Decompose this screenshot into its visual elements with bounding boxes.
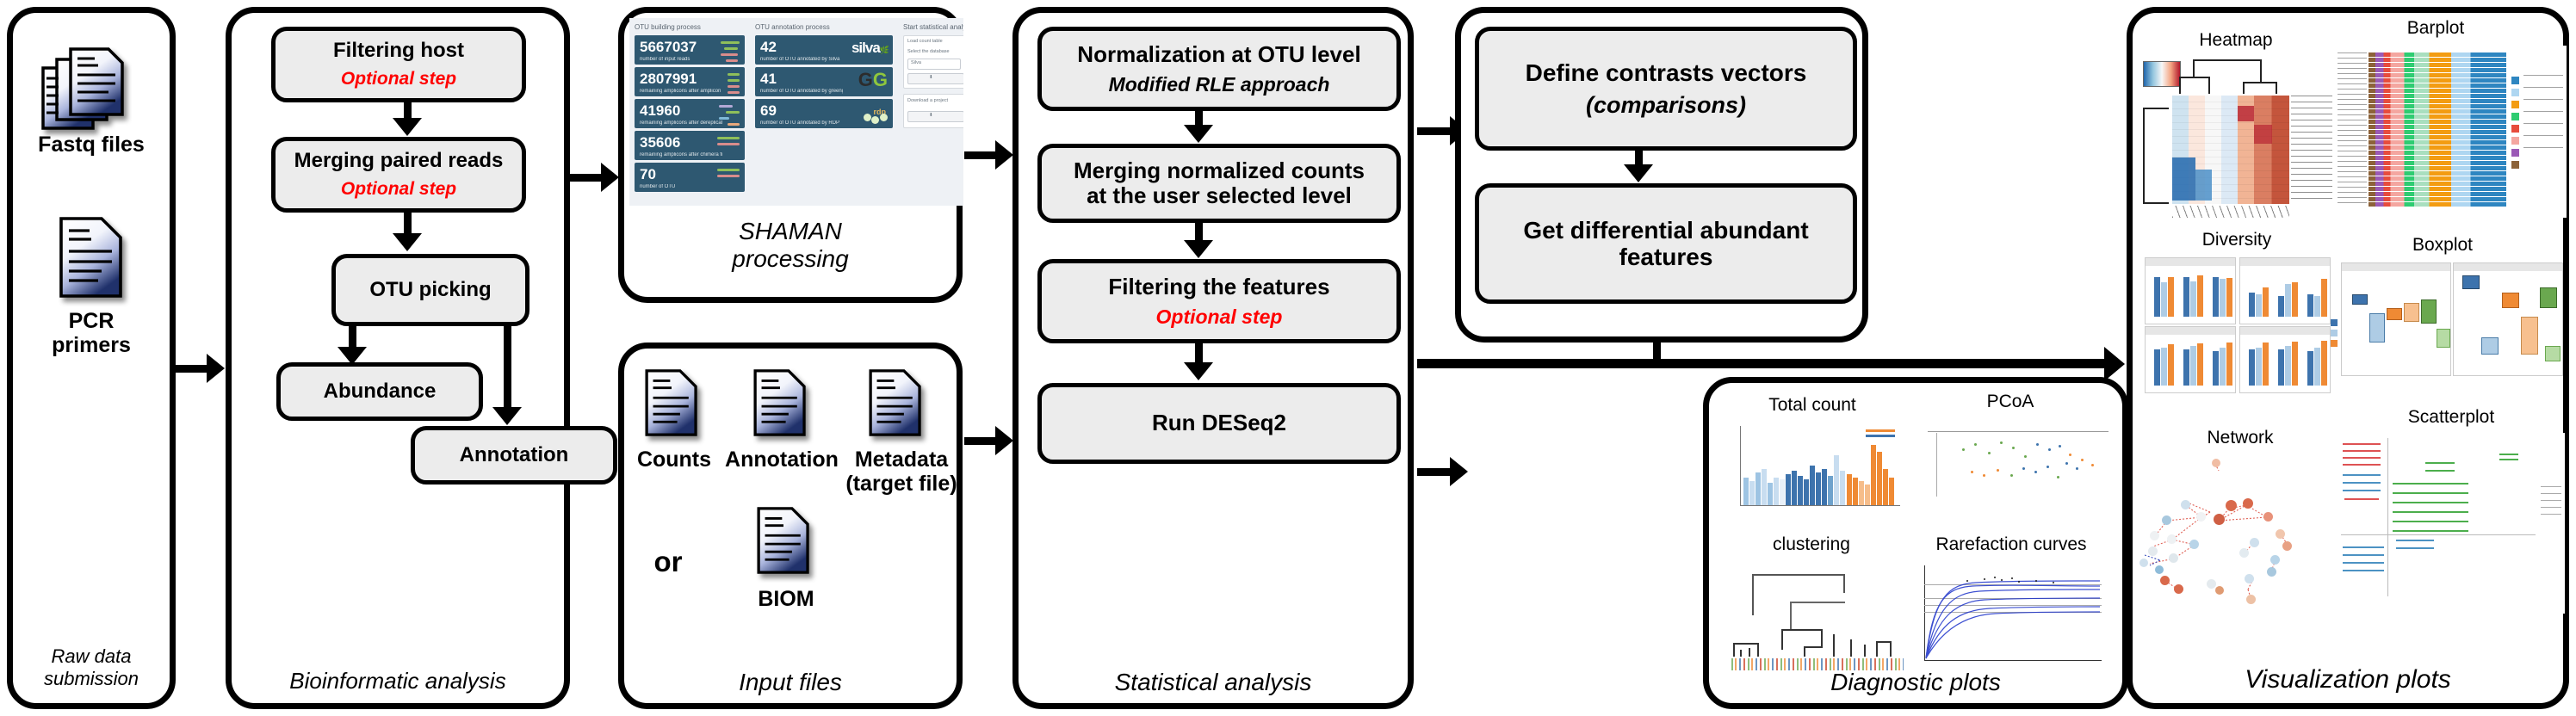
point — [2069, 454, 2071, 456]
network-node — [2215, 586, 2224, 595]
workflow-diagram: Fastq files — [0, 0, 2576, 716]
x-axis — [1740, 505, 1900, 506]
point — [2047, 466, 2049, 468]
shaman-load-count-panel: Load count table Select the database Sil… — [903, 35, 963, 89]
arrow-input-to-stats-head — [995, 426, 1013, 455]
plot-scatterplot — [2339, 433, 2565, 614]
annotation-file-label: Annotation — [719, 448, 845, 472]
step-run-deseq2: Run DESeq2 — [1037, 383, 1401, 464]
network-node — [2243, 498, 2253, 509]
panel-statistical-analysis: Normalization at OTU level Modified RLE … — [1012, 7, 1414, 709]
bar — [1871, 445, 1876, 505]
shaman-load-button[interactable]: ⬇ — [907, 73, 963, 84]
plot-barplot — [2336, 46, 2567, 218]
sparkline-icon — [728, 73, 740, 96]
legend — [1866, 435, 1895, 437]
pcr-primers-group — [13, 215, 170, 304]
heatmap-col-labels — [2172, 206, 2289, 218]
scatter-labels-green-upper — [2425, 462, 2455, 476]
shaman-download-project-panel: Download a project ⬇ — [903, 94, 963, 128]
network-node — [2150, 531, 2159, 540]
sparkline-icon — [719, 105, 740, 128]
network-node — [2167, 534, 2177, 544]
point — [2012, 447, 2015, 449]
network-edges — [2136, 452, 2339, 646]
step-otu-picking-title: OTU picking — [369, 279, 491, 302]
panel-raw-data: Fastq files — [7, 7, 176, 709]
dendrogram-branch — [2193, 59, 2262, 61]
plot-title-scatterplot: Scatterplot — [2365, 407, 2537, 428]
greengenes-logo-icon: GG — [858, 71, 888, 89]
dendrogram-branch — [1833, 634, 1835, 657]
network-node — [2162, 515, 2171, 525]
shaman-stat-label: number of OTU annotated by RDP — [760, 120, 843, 127]
shaman-stat-card: 70 number of OTU — [635, 163, 745, 192]
y-axis — [1936, 433, 1937, 497]
shaman-db-field-label: Select the database — [907, 49, 950, 55]
scatter-labels-blue-bottom — [2343, 546, 2384, 577]
shaman-stat-value: 35606 — [640, 135, 680, 150]
step-abundance-title: Abundance — [324, 380, 437, 404]
point — [2000, 441, 2003, 444]
fastq-files-group — [13, 44, 170, 143]
shaman-stat-value: 69 — [760, 103, 777, 118]
network-node — [2148, 546, 2158, 556]
bar — [1877, 452, 1882, 505]
panel-bioinformatic-analysis-caption: Bioinformatic analysis — [232, 668, 564, 694]
shaman-stat-card: 42 number of OTU annotated by Silva silv… — [755, 35, 893, 65]
step-annotation: Annotation — [411, 426, 617, 485]
biom-file-group — [755, 505, 812, 580]
point — [2036, 443, 2039, 446]
shaman-stat-value: 41 — [760, 71, 777, 86]
network-node — [2276, 529, 2285, 539]
dendrogram-branch — [1821, 629, 1823, 648]
network-node — [2212, 459, 2220, 467]
dendrogram-branch — [1733, 643, 1759, 645]
dendrogram-branch — [1804, 646, 1805, 657]
shaman-stat-label: number of OTU annotated by Silva — [760, 57, 843, 63]
point — [2081, 459, 2084, 461]
fastq-files-label: Fastq files — [13, 133, 170, 157]
shaman-app-screenshot: OTU building process 5667037 number of i… — [629, 18, 963, 206]
arrow-otu-to-annotation-head — [492, 407, 522, 425]
plot-title-boxplot: Boxplot — [2365, 235, 2520, 256]
counts-file-label: Counts — [628, 448, 721, 472]
legend — [1866, 429, 1895, 432]
plot-total-count — [1721, 421, 1907, 519]
dendrogram-branch — [2193, 59, 2195, 77]
dendrogram-branch — [1850, 639, 1852, 657]
counts-file-group — [643, 367, 700, 442]
step-get-differential-features-title: Get differential abundantfeatures — [1523, 217, 1808, 271]
or-label: or — [638, 546, 698, 577]
arrow-contrasts-to-differential-head — [1624, 164, 1653, 182]
facet — [2453, 262, 2563, 376]
panel-contrasts: Define contrasts vectors (comparisons) G… — [1455, 7, 1868, 343]
shaman-download-button[interactable]: ⬇ — [907, 111, 963, 122]
arrow-stats-to-diagnostic-head — [1450, 457, 1468, 486]
step-define-contrasts-note: (comparisons) — [1586, 92, 1746, 118]
facet — [2239, 257, 2331, 324]
heatmap-colorbar — [2143, 61, 2181, 87]
shaman-stat-label: number of OTU — [640, 184, 722, 190]
shaman-col-otu-building-header: OTU building process — [635, 23, 701, 31]
bar — [1889, 478, 1894, 505]
step-filtering-host: Filtering host Optional step — [271, 27, 526, 102]
point — [2048, 448, 2051, 451]
scatter-labels-green-right — [2499, 454, 2518, 460]
network-node — [2226, 500, 2237, 511]
shaman-stat-value: 2807991 — [640, 71, 697, 86]
dendrogram-branch — [1890, 641, 1892, 657]
shaman-load-count-title: Load count table — [907, 39, 943, 45]
document-icon — [57, 215, 126, 299]
dendrogram-branch — [1752, 574, 1845, 576]
bar — [1840, 471, 1845, 505]
y-axis — [1740, 426, 1741, 505]
arrow-bioinfo-to-shaman — [570, 174, 603, 182]
step-normalization: Normalization at OTU level Modified RLE … — [1037, 27, 1401, 111]
dendrogram-branch — [1790, 602, 1792, 631]
panel-visualization-plots: Heatmap — [2127, 7, 2569, 709]
sparkline-icon — [721, 41, 740, 65]
panel-diagnostic-plots: Total count — [1703, 377, 2128, 709]
network-node — [2214, 514, 2225, 525]
x-axis — [2341, 534, 2536, 535]
dendrogram-branch — [2243, 82, 2277, 83]
network-node — [2207, 579, 2216, 589]
step-normalization-note: Modified RLE approach — [1109, 74, 1330, 96]
plot-diversity — [2145, 257, 2334, 395]
panel-shaman-caption: SHAMANprocessing — [624, 218, 957, 273]
network-node — [2263, 512, 2273, 522]
bar — [1774, 478, 1779, 505]
step-define-contrasts: Define contrasts vectors (comparisons) — [1475, 27, 1857, 151]
document-icon — [752, 367, 808, 438]
scatter-labels-red-mid — [2344, 498, 2379, 505]
step-merging-normalized-counts-title: Merging normalized countsat the user sel… — [1074, 158, 1365, 208]
bar — [1804, 479, 1809, 505]
point — [1983, 474, 1985, 477]
arrow-otu-to-annotation — [504, 326, 511, 410]
step-filtering-features-note: Optional step — [1156, 306, 1283, 329]
panel-shaman-processing: OTU building process 5667037 number of i… — [618, 7, 963, 303]
point — [2024, 455, 2027, 458]
barplot-legend — [2511, 77, 2519, 169]
shaman-load-button-label: ⬇ — [929, 75, 933, 81]
shaman-stat-label: remaining amplicons after dereplication — [640, 120, 722, 127]
bar — [1762, 469, 1767, 505]
step-merging-paired-reads-note: Optional step — [341, 179, 456, 200]
network-node — [2169, 553, 2178, 563]
shaman-stat-label: number of OTU annotated by greengenes — [760, 89, 843, 95]
arrow-shaman-to-stats-head — [995, 140, 1013, 170]
scatter-labels-blue-inner — [2396, 540, 2434, 553]
point — [2034, 471, 2037, 473]
shaman-col-start-analysis-header: Start statistical analysis — [903, 23, 963, 31]
bar — [1816, 472, 1821, 505]
arrow-merging-to-filtering-head — [1184, 240, 1213, 258]
facet — [2145, 326, 2236, 393]
shaman-stat-card: 2807991 remaining amplicons after amplic… — [635, 67, 745, 96]
silva-logo-icon: silva🌿 — [851, 40, 889, 57]
shaman-db-select-value: Silva — [911, 60, 921, 66]
biom-file-label: BIOM — [726, 588, 846, 612]
shaman-stat-card: 41960 remaining amplicons after dereplic… — [635, 99, 745, 128]
bar — [1883, 469, 1888, 505]
arrow-raw-to-bioinfo-head — [207, 354, 225, 383]
shaman-download-button-label: ⬇ — [929, 113, 933, 119]
dendrogram-branch — [2143, 108, 2169, 109]
step-otu-picking: OTU picking — [331, 254, 529, 326]
step-get-differential-features: Get differential abundantfeatures — [1475, 183, 1857, 304]
point — [1997, 469, 1999, 472]
step-merging-paired-reads-title: Merging paired reads — [294, 150, 504, 173]
panel-input-files-caption: Input files — [624, 669, 957, 696]
network-node — [2160, 576, 2170, 585]
step-filtering-features-title: Filtering the features — [1108, 275, 1329, 299]
bar — [1792, 471, 1797, 505]
dendrogram-branch — [1749, 648, 1750, 657]
plot-title-heatmap: Heatmap — [2158, 30, 2313, 51]
point — [2076, 467, 2078, 470]
dendrogram-branch — [2179, 77, 2181, 94]
step-normalization-title: Normalization at OTU level — [1077, 42, 1360, 67]
dendrogram-branch — [1781, 629, 1783, 650]
rdp-logo-icon: rdp — [874, 103, 887, 119]
plot-title-diversity: Diversity — [2155, 230, 2319, 250]
dendrogram-branch — [1843, 574, 1845, 593]
network-node — [2245, 574, 2254, 583]
step-abundance: Abundance — [276, 362, 483, 421]
plot-title-total-count: Total count — [1718, 395, 1907, 416]
bar — [1798, 476, 1803, 505]
network-node — [2189, 540, 2199, 549]
arrow-stats-to-contrasts — [1417, 127, 1450, 135]
network-node — [2267, 567, 2276, 577]
arrow-stats-to-visualization — [1417, 359, 2109, 368]
scatter-labels-blue-left — [2343, 474, 2381, 493]
shaman-db-select[interactable]: Silva — [907, 59, 961, 70]
top-rule — [1928, 431, 2108, 432]
bar — [1786, 474, 1791, 505]
step-annotation-title: Annotation — [460, 444, 569, 467]
scatter-labels-red — [2343, 443, 2381, 469]
heatmap-row-labels — [2291, 96, 2332, 204]
network-node — [2239, 548, 2249, 558]
arrow-bioinfo-to-shaman-head — [601, 163, 619, 192]
panel-bioinformatic-analysis: Filtering host Optional step Merging pai… — [226, 7, 570, 709]
arrow-filtering-to-merging-head — [393, 118, 422, 136]
point — [1988, 452, 1991, 454]
point — [1971, 471, 1973, 473]
y-axis — [2387, 438, 2388, 596]
diversity-legend — [2331, 319, 2338, 347]
dendrogram-branch — [1740, 650, 1742, 657]
shaman-stat-value: 70 — [640, 167, 656, 182]
arrow-input-to-stats — [964, 437, 997, 445]
step-filtering-host-note: Optional step — [341, 69, 456, 89]
point — [2010, 474, 2013, 477]
point — [1962, 448, 1965, 451]
arrow-merging-to-otu-head — [393, 233, 422, 251]
dendrogram-branch — [1804, 646, 1823, 648]
step-filtering-features: Filtering the features Optional step — [1037, 259, 1401, 343]
dendrogram-branch — [2143, 202, 2169, 204]
bar — [1847, 474, 1852, 505]
panel-input-files: Counts Annotation — [618, 343, 963, 709]
plot-title-rarefaction: Rarefaction curves — [1912, 534, 2110, 555]
dendrogram-branch — [1757, 643, 1759, 657]
shaman-stat-card: 41 number of OTU annotated by greengenes… — [755, 67, 893, 96]
bar — [1865, 485, 1870, 505]
document-icon — [867, 367, 924, 438]
plot-heatmap — [2141, 54, 2336, 218]
plot-title-barplot: Barplot — [2358, 18, 2513, 39]
shaman-stat-card: 35606 remaining amplicons after chimera … — [635, 131, 745, 160]
metadata-file-label: Metadata(target file) — [841, 448, 962, 496]
sparkline-icon — [717, 169, 740, 181]
bar — [1853, 478, 1858, 505]
sparkline-icon — [717, 137, 740, 149]
arrow-filtering-to-deseq2-head — [1184, 362, 1213, 380]
shaman-col-otu-annotation-header: OTU annotation process — [755, 23, 830, 31]
bar — [1834, 455, 1839, 505]
bar — [1828, 476, 1833, 505]
bar — [1768, 483, 1773, 505]
network-node — [2155, 565, 2164, 574]
rarefaction-curves — [1916, 562, 2110, 670]
step-run-deseq2-title: Run DESeq2 — [1152, 410, 1286, 435]
point — [1974, 443, 1977, 446]
facet — [2239, 326, 2331, 393]
plot-title-pcoa: PCoA — [1924, 392, 2096, 412]
dendrogram-branch — [1876, 641, 1878, 657]
plot-title-clustering: clustering — [1721, 534, 1902, 555]
arrow-stats-to-diagnostic — [1417, 468, 1450, 476]
bar — [1743, 478, 1749, 505]
facet — [2341, 262, 2451, 376]
arrow-shaman-to-stats — [964, 151, 997, 159]
panel-statistical-analysis-caption: Statistical analysis — [1019, 669, 1408, 696]
multi-document-icon — [38, 44, 145, 139]
shaman-stat-card: 69 number of OTU annotated by RDP rdp — [755, 99, 893, 128]
plot-title-network: Network — [2158, 428, 2322, 448]
network-node — [2270, 555, 2280, 565]
dendrogram-branch — [1864, 645, 1866, 657]
step-merging-normalized-counts: Merging normalized countsat the user sel… — [1037, 144, 1401, 223]
shaman-stat-card: 5667037 number of input reads — [635, 35, 745, 65]
document-icon — [643, 367, 700, 438]
panel-visualization-plots-caption: Visualization plots — [2133, 665, 2563, 694]
dendrogram-branch — [1733, 643, 1735, 657]
annotation-file-group — [752, 367, 808, 442]
shaman-stat-label: number of input reads — [640, 57, 719, 63]
plot-boxplot — [2341, 262, 2563, 393]
shaman-download-title: Download a project — [907, 98, 948, 104]
scatter-labels-green — [2393, 483, 2468, 533]
network-node — [2139, 559, 2148, 567]
pcr-primers-label: PCRprimers — [13, 310, 170, 357]
shaman-stat-label: remaining amplicons after amplicon... — [640, 89, 721, 95]
arrow-stats-to-visualization-head — [2104, 347, 2125, 381]
arrow-raw-to-bioinfo — [176, 365, 208, 373]
bar — [1780, 479, 1785, 505]
metadata-file-group — [867, 367, 924, 442]
network-node — [2196, 512, 2206, 522]
step-merging-paired-reads: Merging paired reads Optional step — [271, 137, 526, 213]
network-node — [2250, 538, 2259, 547]
plot-network — [2136, 452, 2339, 646]
panel-diagnostic-plots-caption: Diagnostic plots — [1709, 669, 2122, 696]
panel-raw-data-caption: Raw datasubmission — [13, 645, 170, 689]
step-filtering-host-title: Filtering host — [333, 40, 464, 63]
bar — [1822, 469, 1827, 505]
dendrogram-branch — [2243, 82, 2245, 94]
dendrogram-branch — [2143, 108, 2145, 204]
barplot-row-labels — [2338, 52, 2367, 207]
network-node — [2246, 595, 2256, 604]
dendrogram-branch — [1781, 629, 1823, 631]
bar — [1810, 466, 1815, 505]
dendrogram-branch — [2179, 77, 2210, 78]
dendrogram-branch — [1752, 574, 1754, 615]
plot-rarefaction — [1916, 562, 2110, 670]
heatmap-grid — [2172, 96, 2289, 204]
bar — [1859, 481, 1864, 505]
point — [2059, 445, 2061, 447]
facet — [2145, 257, 2236, 324]
point — [2065, 462, 2068, 465]
point — [2091, 464, 2094, 466]
step-define-contrasts-title: Define contrasts vectors — [1526, 59, 1807, 86]
shaman-stat-value: 42 — [760, 40, 777, 54]
plot-pcoa — [1921, 417, 2115, 519]
dendrogram-branch — [2208, 77, 2210, 94]
plot-clustering — [1721, 560, 1907, 670]
network-node — [2174, 584, 2183, 594]
shaman-stat-label: remaining amplicons after chimera filter… — [640, 152, 722, 158]
dendrogram-branch — [2276, 82, 2277, 94]
barplot-legend-labels — [2523, 75, 2563, 149]
bar — [1756, 472, 1761, 505]
dendrogram-branch — [2260, 59, 2262, 82]
point — [2022, 467, 2025, 470]
dendrogram-branch — [1790, 602, 1845, 603]
barplot-stacked-bars — [2369, 52, 2506, 207]
shaman-stat-value: 5667037 — [640, 40, 697, 54]
document-icon — [755, 505, 812, 576]
scatterplot-legend — [2541, 486, 2561, 521]
network-node — [2181, 500, 2190, 509]
arrow-normalization-to-merging-head — [1184, 125, 1213, 143]
point — [2057, 476, 2059, 478]
bar — [1749, 481, 1755, 505]
shaman-stat-value: 41960 — [640, 103, 680, 118]
network-node — [2282, 541, 2292, 551]
